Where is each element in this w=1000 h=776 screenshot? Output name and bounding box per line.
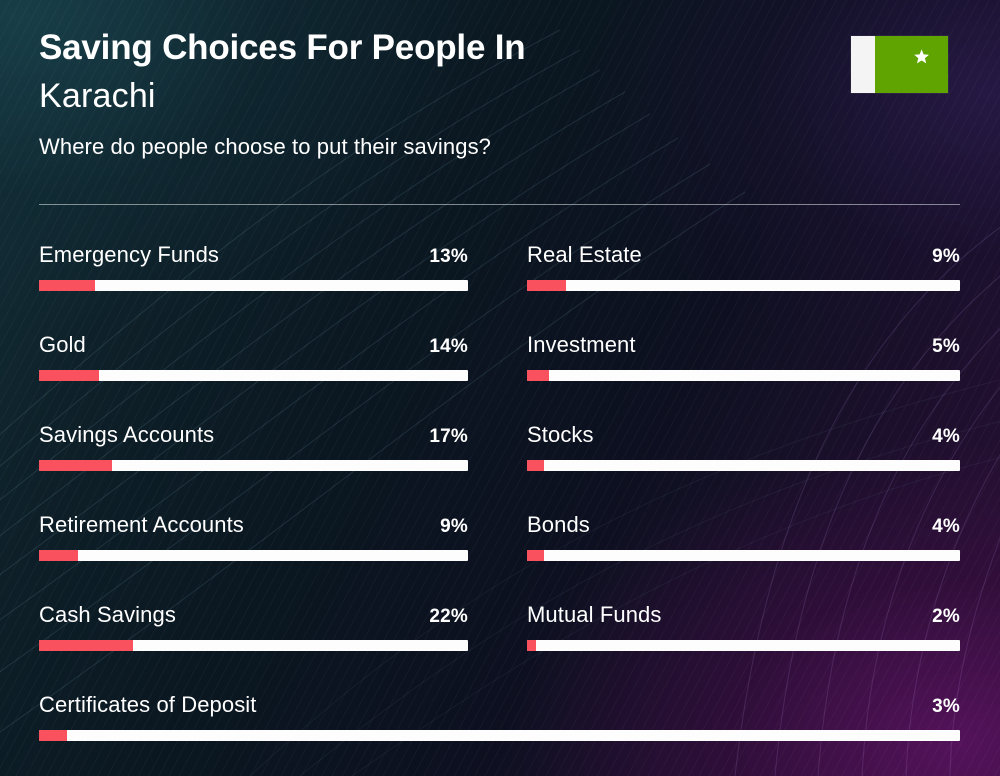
bar-fill — [527, 640, 536, 651]
bar-row-cash-savings: Cash Savings 22% — [39, 598, 468, 651]
bar-track — [527, 280, 960, 291]
bar-track — [39, 280, 468, 291]
bar-track — [39, 640, 468, 651]
page-title: Saving Choices For People In — [39, 26, 961, 70]
header: Saving Choices For People In Karachi Whe… — [39, 26, 961, 160]
bar-value: 22% — [429, 606, 468, 628]
bar-label: Certificates of Deposit — [39, 692, 257, 718]
flag-green-field — [875, 36, 948, 93]
bar-label: Real Estate — [527, 242, 642, 268]
bar-row-retirement-accounts: Retirement Accounts 9% — [39, 508, 468, 561]
bar-label: Investment — [527, 332, 636, 358]
subtitle-question: Where do people choose to put their savi… — [39, 134, 961, 160]
crescent-star-icon — [875, 36, 948, 93]
bar-label: Retirement Accounts — [39, 512, 244, 538]
bar-value: 3% — [932, 696, 960, 718]
bar-label: Cash Savings — [39, 602, 176, 628]
bar-fill — [39, 280, 95, 291]
bar-track — [39, 460, 468, 471]
bar-value: 9% — [932, 246, 960, 268]
bar-fill — [39, 730, 67, 741]
bar-label: Emergency Funds — [39, 242, 219, 268]
bar-row-gold: Gold 14% — [39, 328, 468, 381]
header-divider — [39, 204, 960, 205]
bar-value: 13% — [429, 246, 468, 268]
bar-value: 5% — [932, 336, 960, 358]
bar-label: Stocks — [527, 422, 594, 448]
bar-track — [39, 730, 960, 741]
bar-track — [527, 370, 960, 381]
bar-fill — [39, 640, 133, 651]
bar-value: 14% — [429, 336, 468, 358]
bar-label: Gold — [39, 332, 86, 358]
infographic-canvas: Saving Choices For People In Karachi Whe… — [0, 0, 1000, 776]
bar-track — [527, 550, 960, 561]
city-name: Karachi — [39, 74, 961, 118]
bar-value: 4% — [932, 426, 960, 448]
bar-track — [527, 460, 960, 471]
bar-row-investment: Investment 5% — [527, 328, 960, 381]
bar-track — [39, 550, 468, 561]
bar-fill — [39, 370, 99, 381]
pakistan-flag-icon — [851, 36, 948, 93]
bar-fill — [527, 280, 566, 291]
bar-value: 2% — [932, 606, 960, 628]
bar-row-bonds: Bonds 4% — [527, 508, 960, 561]
bar-track — [527, 640, 960, 651]
bar-row-savings-accounts: Savings Accounts 17% — [39, 418, 468, 471]
bar-value: 4% — [932, 516, 960, 538]
bar-row-real-estate: Real Estate 9% — [527, 238, 960, 291]
bar-label: Mutual Funds — [527, 602, 662, 628]
bar-value: 17% — [429, 426, 468, 448]
bar-fill — [39, 460, 112, 471]
flag-white-stripe — [851, 36, 875, 93]
bar-row-stocks: Stocks 4% — [527, 418, 960, 471]
bar-fill — [527, 550, 544, 561]
bar-track — [39, 370, 468, 381]
bar-fill — [527, 370, 549, 381]
bar-row-emergency-funds: Emergency Funds 13% — [39, 238, 468, 291]
bar-fill — [527, 460, 544, 471]
bar-row-mutual-funds: Mutual Funds 2% — [527, 598, 960, 651]
bar-fill — [39, 550, 78, 561]
bar-value: 9% — [440, 516, 468, 538]
bar-label: Savings Accounts — [39, 422, 214, 448]
bar-row-certificates-of-deposit: Certificates of Deposit 3% — [39, 688, 960, 741]
bar-label: Bonds — [527, 512, 590, 538]
